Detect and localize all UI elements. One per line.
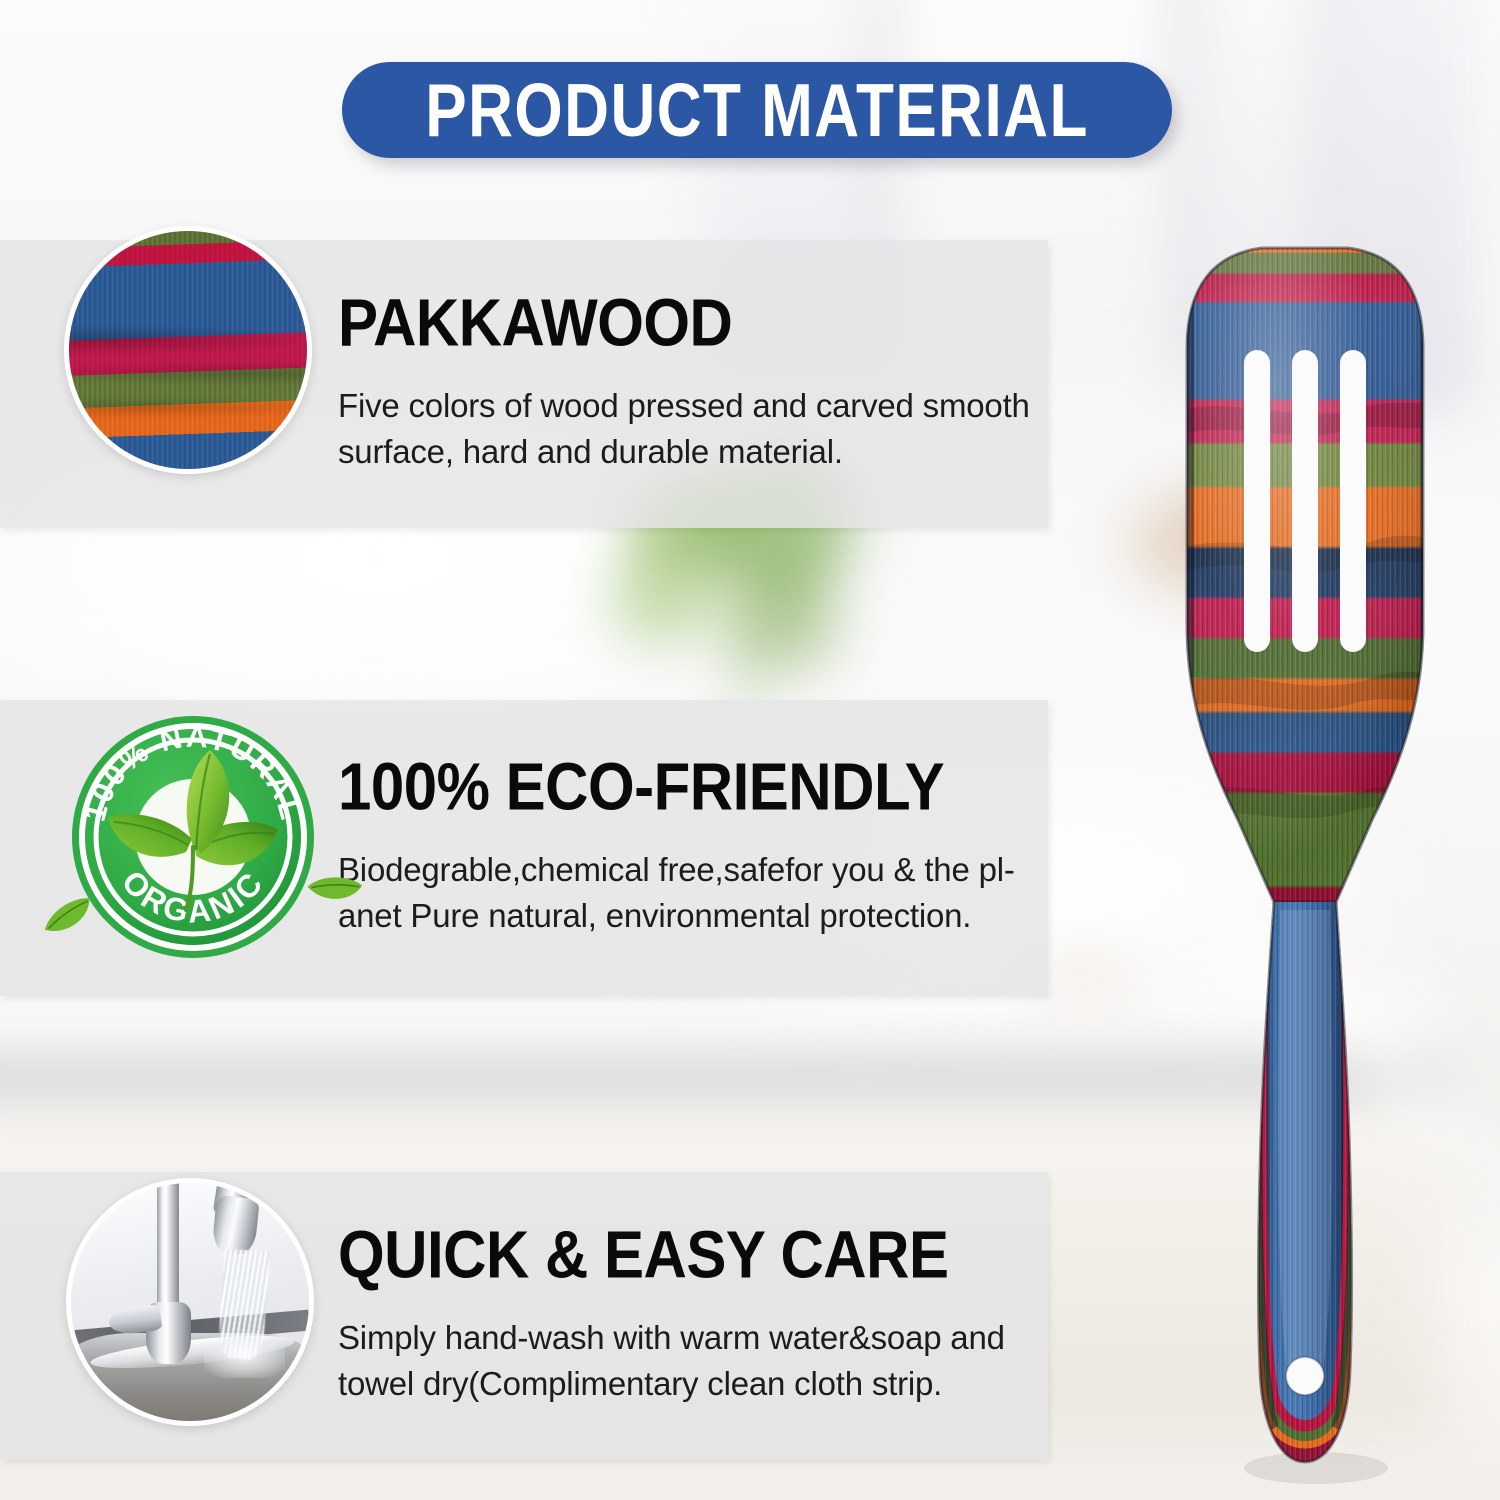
blade-slots bbox=[1244, 350, 1366, 652]
product-material-banner: PRODUCT MATERIAL bbox=[342, 62, 1172, 158]
water-splash bbox=[204, 1340, 285, 1378]
desc-line: surface, hard and durable material. bbox=[338, 429, 1030, 475]
icon-slot: 100% NATURAL ORGANIC bbox=[0, 700, 338, 996]
blade-slot bbox=[1244, 350, 1270, 652]
desc-line: Biodegrable,chemical free,safefor you & … bbox=[338, 847, 1024, 893]
feature-title-eco-friendly: 100% ECO-FRIENDLY bbox=[338, 754, 1024, 821]
desc-line: towel dry(Complimentary clean cloth stri… bbox=[338, 1361, 1024, 1407]
plant-leaf bbox=[605, 545, 725, 650]
feature-panel-pakkawood: PAKKAWOOD Five colors of wood pressed an… bbox=[0, 240, 1048, 528]
organic-natural-badge-icon: 100% NATURAL ORGANIC bbox=[70, 714, 316, 960]
feature-desc-pakkawood: Five colors of wood pressed and carved s… bbox=[338, 383, 1030, 474]
feature-desc-quick-easy-care: Simply hand-wash with warm water&soap an… bbox=[338, 1315, 1024, 1406]
feature-title-quick-easy-care: QUICK & EASY CARE bbox=[338, 1222, 1024, 1289]
banner-title: PRODUCT MATERIAL bbox=[425, 72, 1089, 148]
icon-slot bbox=[0, 1172, 338, 1460]
pakkawood-slotted-spatula bbox=[1140, 230, 1470, 1480]
desc-line: Five colors of wood pressed and carved s… bbox=[338, 383, 1030, 429]
text-slot: PAKKAWOOD Five colors of wood pressed an… bbox=[338, 293, 1054, 474]
organic-badge-svg: 100% NATURAL ORGANIC bbox=[70, 714, 316, 960]
blade-slot bbox=[1292, 350, 1318, 652]
faucet-sink-water-circle-icon bbox=[66, 1178, 314, 1426]
text-slot: 100% ECO-FRIENDLY Biodegrable,chemical f… bbox=[338, 757, 1048, 938]
blade-slot bbox=[1340, 350, 1366, 652]
feature-title-pakkawood: PAKKAWOOD bbox=[338, 290, 1030, 357]
pakkawood-texture-circle-icon bbox=[64, 226, 312, 474]
faucet-column bbox=[157, 1178, 180, 1311]
feature-panel-quick-easy-care: QUICK & EASY CARE Simply hand-wash with … bbox=[0, 1172, 1048, 1460]
icon-slot bbox=[0, 240, 338, 528]
infographic-canvas: PRODUCT MATERIAL PAKKAWOOD Five colors o… bbox=[0, 0, 1500, 1500]
feature-desc-eco-friendly: Biodegrable,chemical free,safefor you & … bbox=[338, 847, 1024, 938]
desc-line: Simply hand-wash with warm water&soap an… bbox=[338, 1315, 1024, 1361]
text-slot: QUICK & EASY CARE Simply hand-wash with … bbox=[338, 1225, 1048, 1406]
desc-line: anet Pure natural, environmental protect… bbox=[338, 893, 1024, 939]
spatula-svg bbox=[1140, 230, 1470, 1480]
wood-grain-lines bbox=[64, 226, 312, 474]
feature-panel-eco-friendly: 100% NATURAL ORGANIC bbox=[0, 700, 1048, 996]
